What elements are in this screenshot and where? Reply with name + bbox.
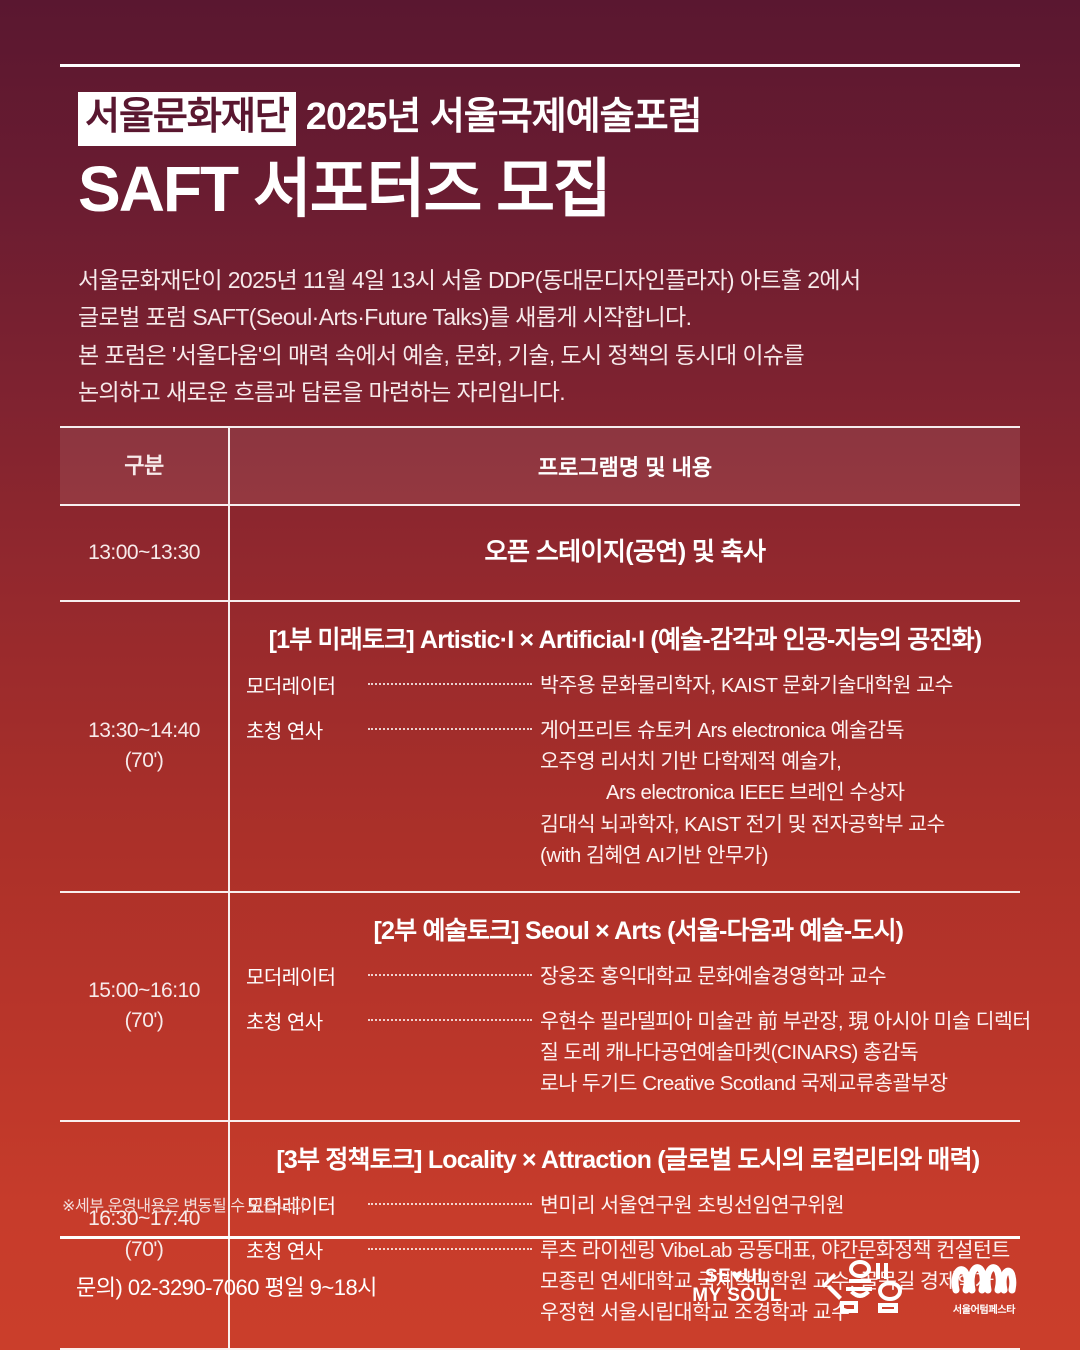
intro-line-3: 본 포럼은 '서울다움'의 매력 속에서 예술, 문화, 기술, 도시 정책의 … xyxy=(78,337,1028,374)
footnote: ※세부 운영내용은 변동될 수 있습니다 xyxy=(62,1192,306,1216)
dotted-leader xyxy=(364,670,540,696)
dotted-leader xyxy=(364,1006,540,1032)
session1-moderator-value: 박주용 문화물리학자, KAIST 문화기술대학원 교수 xyxy=(540,670,1004,701)
row-program-session2: [2부 예술토크] Seoul × Arts (서울-다움과 예술-도시) 모더… xyxy=(228,893,1047,1120)
row-time-session3: 16:30~17:40 (70') xyxy=(60,1122,228,1349)
dotted-leader xyxy=(364,961,540,987)
session2-moderator-label: 모더레이터 xyxy=(246,961,364,990)
row-program-open: 오픈 스테이지(공연) 및 축사 xyxy=(228,506,1020,600)
row-time-open: 13:00~13:30 xyxy=(60,506,228,600)
speaker-item: 로나 두기드 Creative Scotland 국제교류총괄부장 xyxy=(540,1068,1031,1099)
session2-duration: (70') xyxy=(125,1006,164,1036)
intro-line-1: 서울문화재단이 2025년 11월 4일 13시 서울 DDP(동대문디자인플라… xyxy=(78,262,1028,299)
intro-line-2: 글로벌 포럼 SAFT(Seoul·Arts·Future Talks)를 새롭… xyxy=(78,299,1028,336)
table-row: 15:00~16:10 (70') [2부 예술토크] Seoul × Arts… xyxy=(60,893,1020,1122)
session2-speakers-line: 초청 연사 우현수 필라델피아 미술관 前 부관장, 現 아시아 미술 디렉터 … xyxy=(246,1006,1031,1099)
dotted-leader xyxy=(364,1190,540,1216)
session2-moderator-line: 모더레이터 장웅조 홍익대학교 문화예술경영학과 교수 xyxy=(246,961,1031,992)
seoul-autumn-festa-logo: 서울어텀페스타 xyxy=(946,1258,1022,1316)
header-cell-time: 구분 xyxy=(60,428,228,504)
footer-logos: SE♥UL MY SOUL xyxy=(692,1258,1022,1316)
session1-title: [1부 미래토크] Artistic·I × Artificial·I (예술-… xyxy=(246,614,1004,670)
open-stage-title: 오픈 스테이지(공연) 및 축사 xyxy=(246,518,1004,584)
session2-speaker-label: 초청 연사 xyxy=(246,1006,364,1035)
speaker-item: Ars electronica IEEE 브레인 수상자 xyxy=(540,777,1004,808)
speaker-item: (with 김혜연 AI기반 안무가) xyxy=(540,840,1004,871)
session1-speakers-line: 초청 연사 게어프리트 슈토커 Ars electronica 예술감독 오주영… xyxy=(246,715,1004,871)
table-header-row: 구분 프로그램명 및 내용 xyxy=(60,428,1020,506)
festa-caption: 서울어텀페스타 xyxy=(953,1301,1015,1316)
session3-duration: (70') xyxy=(125,1235,164,1265)
session1-moderator-line: 모더레이터 박주용 문화물리학자, KAIST 문화기술대학원 교수 xyxy=(246,670,1004,701)
session2-speaker-values: 우현수 필라델피아 미술관 前 부관장, 現 아시아 미술 디렉터 질 도레 캐… xyxy=(540,1006,1031,1099)
contact-info: 문의) 02-3290-7060 평일 9~18시 xyxy=(76,1270,377,1302)
poster-header: 서울문화재단 2025년 서울국제예술포럼 SAFT 서포터즈 모집 xyxy=(78,92,1038,225)
page-title: SAFT 서포터즈 모집 xyxy=(78,154,1038,226)
session3-moderator-value: 변미리 서울연구원 초빙선임연구위원 xyxy=(540,1190,1010,1221)
intro-paragraph: 서울문화재단이 2025년 11월 4일 13시 서울 DDP(동대문디자인플라… xyxy=(78,262,1028,411)
seoul-my-soul-logo: SE♥UL MY SOUL xyxy=(692,1268,782,1305)
intro-line-4: 논의하고 새로운 흐름과 담론을 마련하는 자리입니다. xyxy=(78,374,1028,411)
speaker-item: 게어프리트 슈토커 Ars electronica 예술감독 xyxy=(540,715,1004,746)
table-row: 13:00~13:30 오픈 스테이지(공연) 및 축사 xyxy=(60,506,1020,602)
speaker-item: 오주영 리서치 기반 다학제적 예술가, xyxy=(540,746,1004,777)
session3-moderator-line: 모더레이터 변미리 서울연구원 초빙선임연구위원 xyxy=(246,1190,1010,1221)
row-time-session1: 13:30~14:40 (70') xyxy=(60,602,228,891)
top-divider xyxy=(60,64,1020,67)
speaker-item: 김대식 뇌과학자, KAIST 전기 및 전자공학부 교수 xyxy=(540,809,1004,840)
session1-speaker-values: 게어프리트 슈토커 Ars electronica 예술감독 오주영 리서치 기… xyxy=(540,715,1004,871)
session2-title: [2부 예술토크] Seoul × Arts (서울-다움과 예술-도시) xyxy=(246,905,1031,961)
speaker-item: 우현수 필라델피아 미술관 前 부관장, 現 아시아 미술 디렉터 xyxy=(540,1006,1031,1037)
dotted-leader xyxy=(364,715,540,741)
forum-name: 2025년 서울국제예술포럼 xyxy=(306,95,702,141)
row-time-session2: 15:00~16:10 (70') xyxy=(60,893,228,1120)
session1-time: 13:30~14:40 xyxy=(88,716,200,746)
session3-speaker-label: 초청 연사 xyxy=(246,1235,364,1264)
session1-duration: (70') xyxy=(125,746,164,776)
session2-moderator-value: 장웅조 홍익대학교 문화예술경영학과 교수 xyxy=(540,961,1031,992)
session1-moderator-label: 모더레이터 xyxy=(246,670,364,699)
speaker-item: 질 도레 캐나다공연예술마켓(CINARS) 총감독 xyxy=(540,1037,1031,1068)
header-cell-program: 프로그램명 및 내용 xyxy=(228,428,1020,504)
session3-title: [3부 정책토크] Locality × Attraction (글로벌 도시의… xyxy=(246,1134,1010,1190)
row-program-session1: [1부 미래토크] Artistic·I × Artificial·I (예술-… xyxy=(228,602,1020,891)
organization-chip: 서울문화재단 xyxy=(78,92,296,146)
kicker-line: 서울문화재단 2025년 서울국제예술포럼 xyxy=(78,92,1038,146)
session2-time: 15:00~16:10 xyxy=(88,976,200,1006)
sfac-logo xyxy=(816,1259,912,1315)
footer-divider xyxy=(60,1236,1020,1239)
table-row: 13:30~14:40 (70') [1부 미래토크] Artistic·I ×… xyxy=(60,602,1020,893)
session1-speaker-label: 초청 연사 xyxy=(246,715,364,744)
seoul-my-soul-line2: MY SOUL xyxy=(692,1287,782,1306)
